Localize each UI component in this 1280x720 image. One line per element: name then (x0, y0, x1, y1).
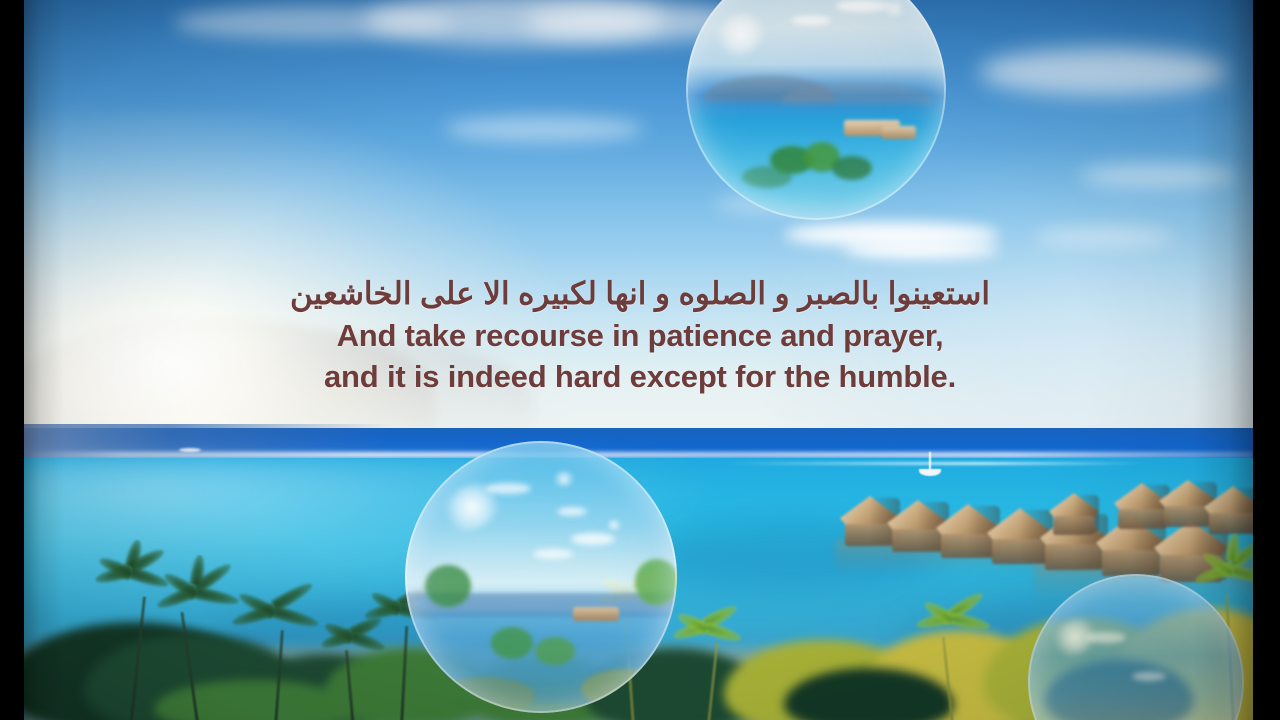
slide-canvas: استعينوا بالصبر و الصلوه و انها لكبيره ا… (0, 0, 1280, 720)
sailboat (917, 452, 943, 478)
bubble-specular-highlight (882, 0, 906, 18)
palm-trunk (274, 630, 284, 720)
letterbox-bar-left (0, 0, 24, 720)
palm-trunk (942, 636, 955, 720)
cloud-mid-band-b (844, 240, 999, 259)
cloud-low-right (1079, 164, 1239, 188)
bubble-specular-highlight (551, 471, 577, 487)
cloud-upper-right (979, 48, 1229, 96)
bubble-rim (405, 441, 677, 713)
cloud-mid-band-c (1034, 228, 1174, 246)
palm-trunk (706, 642, 719, 720)
sailboat-hull (919, 469, 941, 476)
bubble-center-large (405, 441, 677, 713)
letterbox-bar-right (1253, 0, 1280, 720)
bungalow-shade (1232, 488, 1253, 532)
palm-trunk (180, 612, 199, 720)
bungalow-shade (1073, 495, 1099, 533)
palm-frond (350, 630, 387, 654)
bungalow (1049, 493, 1099, 533)
palm-tree (904, 606, 1004, 720)
palm-frond (951, 612, 992, 633)
bubble-specular-highlight (605, 519, 623, 531)
background-photo (24, 0, 1253, 720)
palm-trunk (345, 650, 355, 720)
distant-boat (179, 448, 201, 452)
palm-frond (704, 621, 743, 645)
bungalow (1204, 486, 1253, 532)
palm-tree (310, 624, 400, 720)
